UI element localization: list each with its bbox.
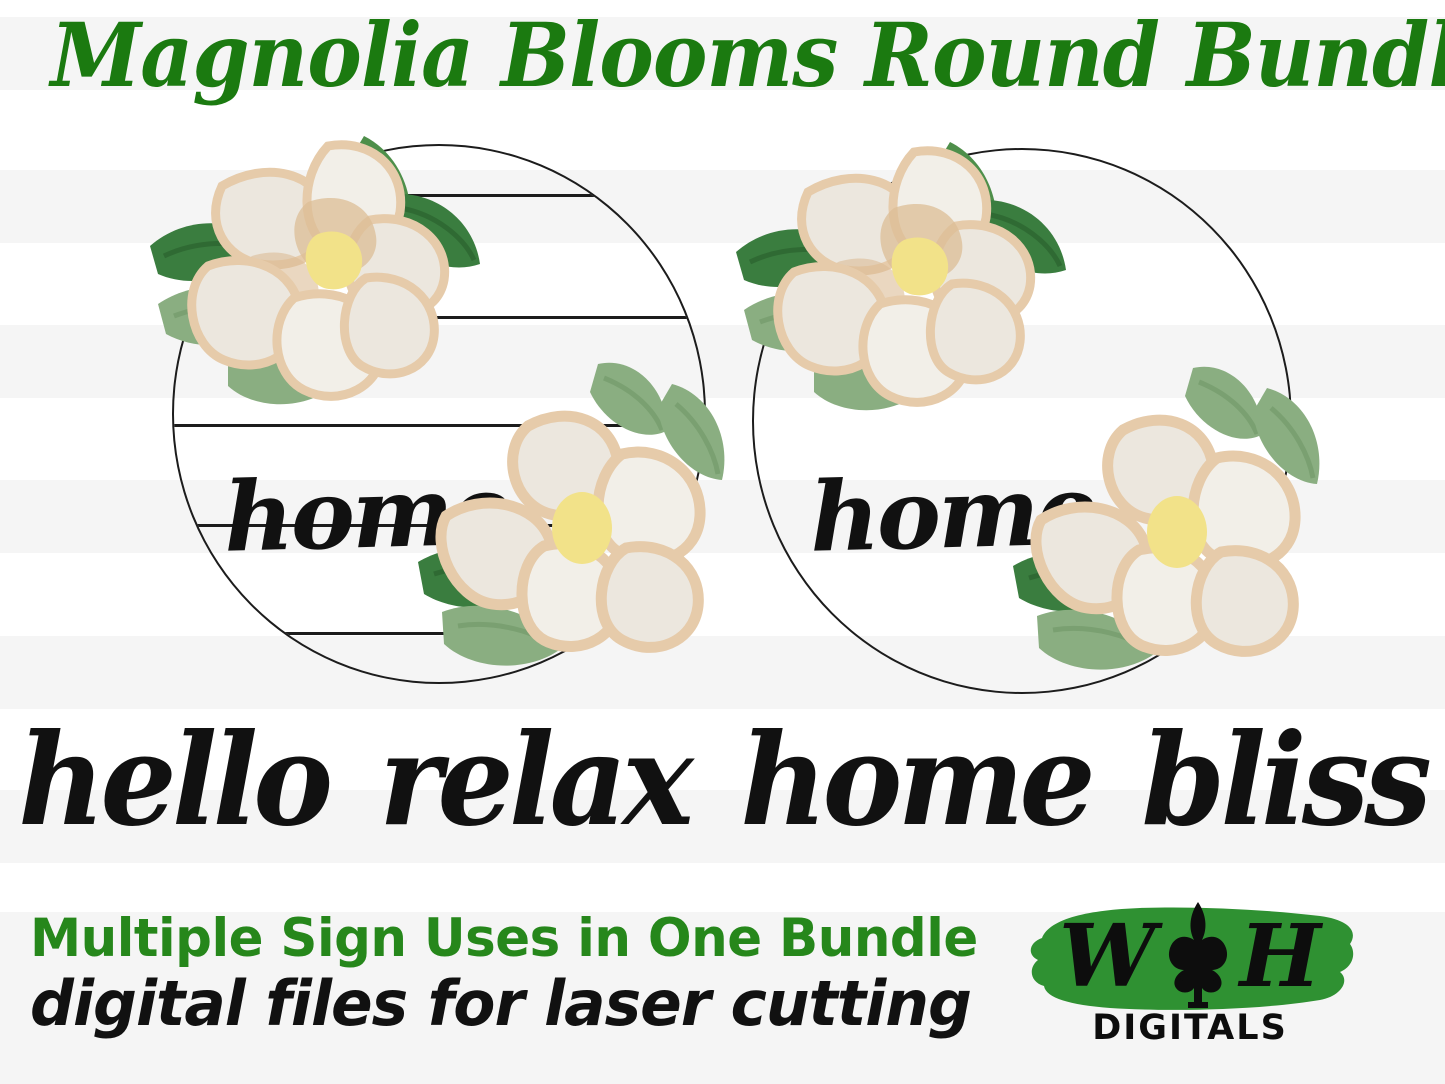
sign-shiplap-round: home xyxy=(172,144,706,684)
sign-word-home: home xyxy=(223,462,510,565)
logo-letter-h: H xyxy=(1240,914,1321,1000)
shiplap-line xyxy=(174,316,704,319)
logo-wordmark: W H xyxy=(1020,898,1360,1016)
shiplap-line xyxy=(174,424,704,427)
script-word-bliss: bliss xyxy=(1142,717,1428,843)
sign-circle-outline xyxy=(172,144,706,684)
promo-subline: digital files for laser cutting xyxy=(30,971,1020,1036)
shiplap-line xyxy=(174,194,704,197)
sign-plain-round: home xyxy=(752,148,1292,694)
script-word-home: home xyxy=(740,717,1091,843)
shiplap-line xyxy=(174,632,704,635)
sign-word-home: home xyxy=(809,462,1096,565)
script-word-relax: relax xyxy=(379,717,689,843)
promo-headline: Multiple Sign Uses in One Bundle xyxy=(30,912,1000,965)
fleur-de-lis-icon xyxy=(1160,898,1236,1016)
brand-logo: W H DIGITALS xyxy=(1020,898,1390,1073)
promo-text-block: Multiple Sign Uses in One Bundle digital… xyxy=(30,912,1030,1036)
sign-circle-outline xyxy=(752,148,1292,694)
script-word-row: hello relax home bliss xyxy=(0,700,1445,860)
page-title: Magnolia Blooms Round Bundle xyxy=(51,8,1395,103)
logo-letter-w: W xyxy=(1059,914,1156,1000)
product-graphic: Magnolia Blooms Round Bundle home home xyxy=(0,0,1445,1084)
script-word-hello: hello xyxy=(18,717,328,843)
